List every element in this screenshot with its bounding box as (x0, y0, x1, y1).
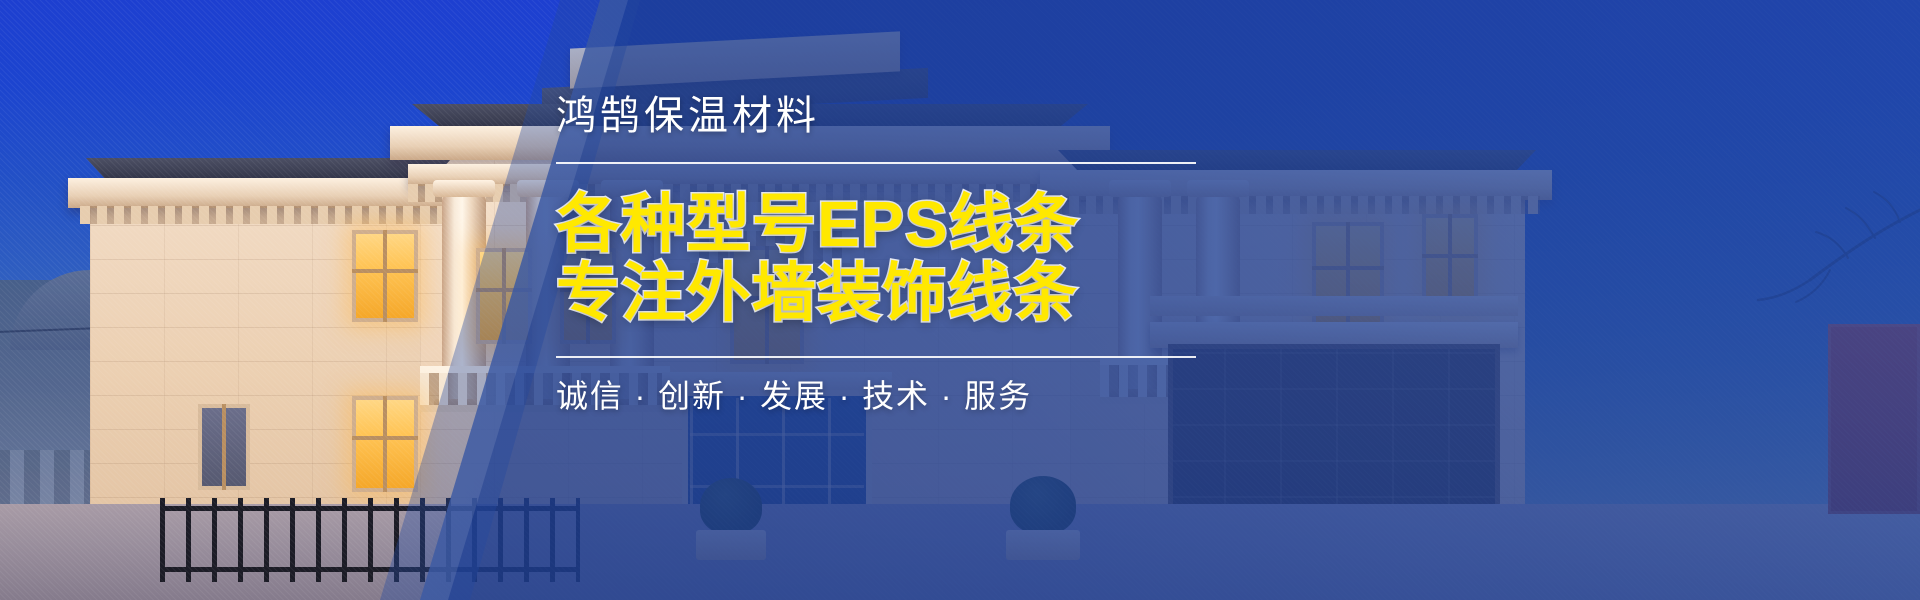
tree-branch-icon (1660, 170, 1920, 390)
dark-window (198, 404, 250, 490)
brand-name: 鸿鹄保温材料 (556, 96, 1296, 136)
headline-line-1: 各种型号EPS线条 (556, 188, 1080, 260)
shrub (1010, 476, 1076, 534)
lit-window (352, 230, 418, 322)
hero-banner: 鸿鹄保温材料 各种型号EPS线条 专注外墙装饰线条 诚信 · 创新 · 发展 ·… (0, 0, 1920, 600)
roof-left (86, 158, 452, 178)
planter (1006, 530, 1080, 560)
lit-window (476, 248, 532, 344)
banner-text-block: 鸿鹄保温材料 各种型号EPS线条 专注外墙装饰线条 诚信 · 创新 · 发展 ·… (556, 96, 1296, 412)
planter (696, 530, 766, 560)
tagline: 诚信 · 创新 · 发展 · 技术 · 服务 (556, 380, 1296, 412)
lit-window (352, 396, 418, 492)
headline: 各种型号EPS线条 专注外墙装饰线条 (556, 190, 1296, 328)
headline-line-2: 专注外墙装饰线条 (556, 259, 1296, 328)
iron-fence (160, 498, 580, 582)
dentil-row-left (80, 206, 458, 224)
divider-bottom (556, 356, 1196, 358)
shrub (700, 478, 762, 534)
divider-top (556, 162, 1196, 164)
